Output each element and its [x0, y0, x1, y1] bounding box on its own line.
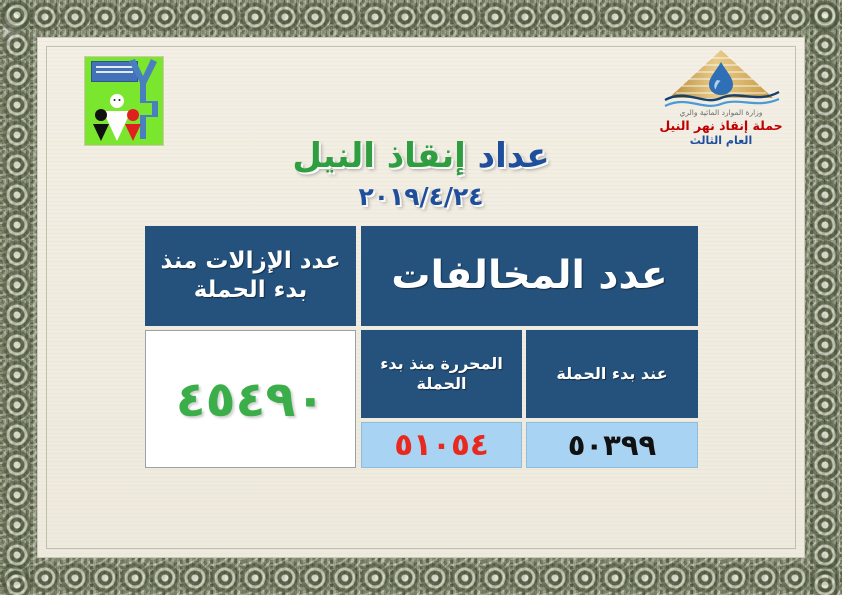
violations-issued-value-cell: ٥١٠٥٤	[361, 422, 522, 468]
title-part-counter: عداد	[478, 136, 550, 176]
violations-at-start-value-cell: ٥٠٣٩٩	[526, 422, 698, 468]
violations-issued-subheader-cell: المحررة منذ بدء الحملة	[361, 330, 522, 418]
violations-issued-value: ٥١٠٥٤	[394, 427, 489, 463]
removals-value: ٤٥٤٩٠	[176, 371, 326, 428]
removals-header-cell: عدد الإزالات منذ بدء الحملة	[145, 226, 356, 326]
report-date: ٢٠١٩/٤/٢٤	[0, 182, 842, 211]
counter-table: عدد الإزالات منذ بدء الحملة ٤٥٤٩٠ عدد ال…	[145, 226, 698, 468]
nile-youth-green-logo	[84, 56, 164, 146]
ministry-logo: وزارة الموارد المائية والري حملة إنقاذ ن…	[655, 48, 787, 146]
page-title: عداد إنقاذ النيل	[0, 136, 842, 176]
violations-header-cell: عدد المخالفات	[361, 226, 698, 326]
campaign-name-text: حملة إنقاذ نهر النيل	[655, 118, 787, 133]
ministry-logo-artwork	[655, 48, 787, 110]
violations-at-start-value: ٥٠٣٩٩	[568, 428, 657, 462]
violations-at-start-subheader-cell: عند بدء الحملة	[526, 330, 698, 418]
pyramid-water-drop-icon	[655, 48, 787, 110]
title-block: عداد إنقاذ النيل ٢٠١٩/٤/٢٤	[0, 136, 842, 211]
removals-value-cell: ٤٥٤٩٠	[145, 330, 356, 468]
title-part-save-the-nile: إنقاذ النيل	[292, 136, 465, 176]
certificate-page: وزارة الموارد المائية والري حملة إنقاذ ن…	[0, 0, 842, 595]
